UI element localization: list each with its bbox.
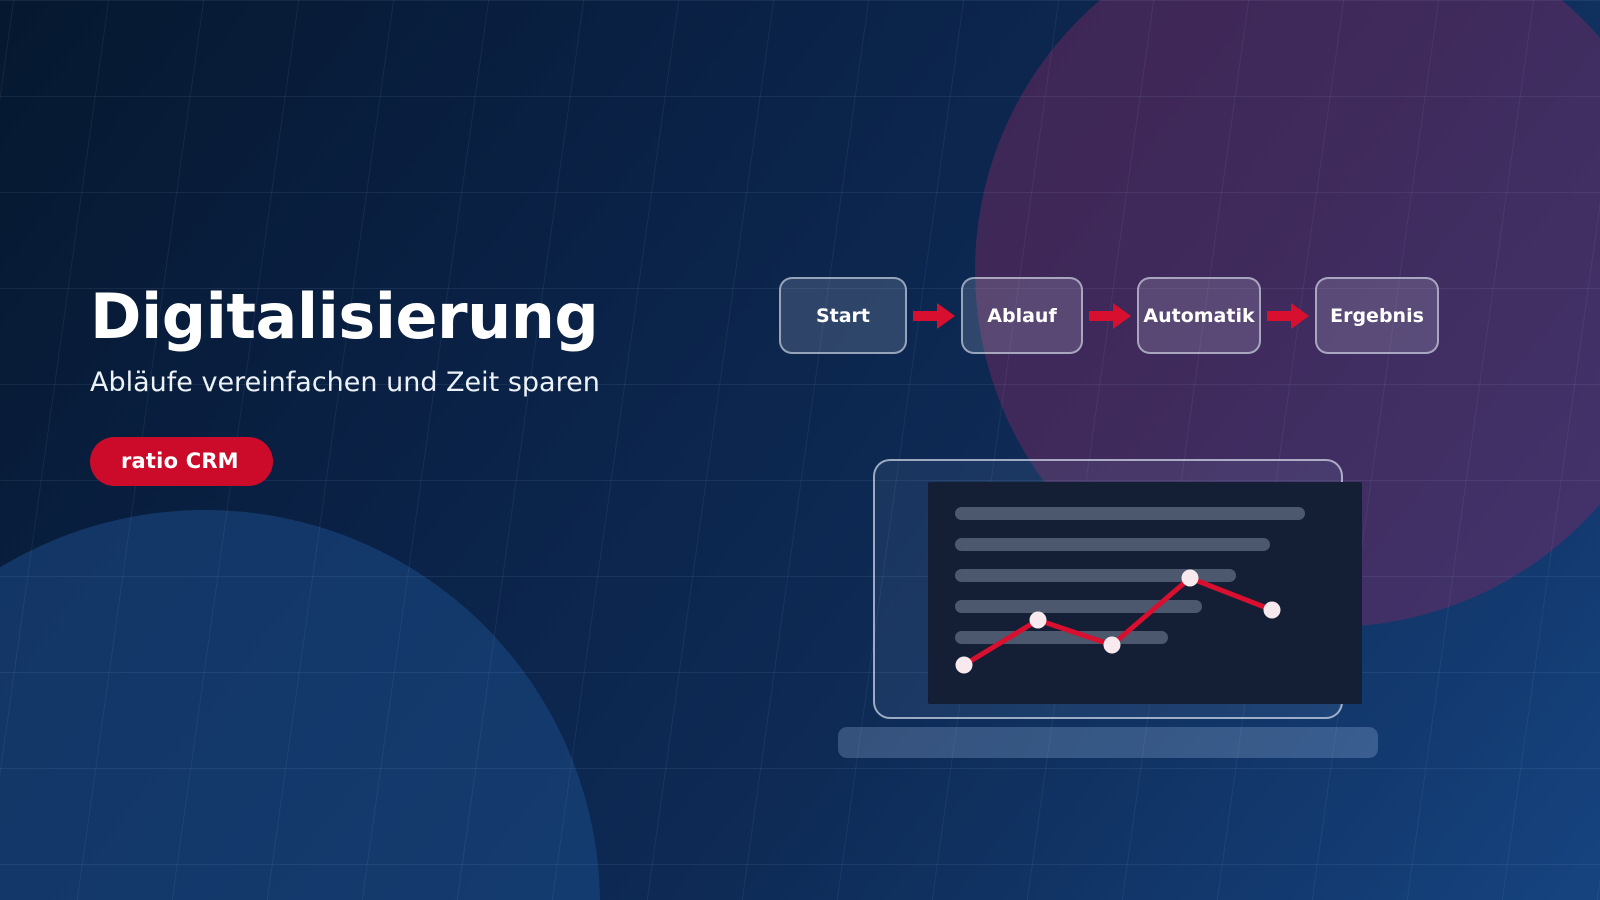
- laptop-mockup: [838, 459, 1378, 759]
- laptop-screen: [928, 482, 1362, 704]
- page-subtitle: Abläufe vereinfachen und Zeit sparen: [90, 367, 730, 399]
- chart-data-point: [1264, 602, 1281, 619]
- chart-data-point: [956, 657, 973, 674]
- flow-node-ablauf[interactable]: Ablauf: [961, 277, 1083, 354]
- chart-data-point: [1182, 570, 1199, 587]
- arrow-right-icon: [907, 301, 961, 331]
- flow-node-label: Ablauf: [987, 305, 1056, 327]
- decorative-circle-blue: [0, 510, 600, 900]
- arrow-right-icon: [1261, 301, 1315, 331]
- flow-node-label: Start: [816, 305, 870, 327]
- hero-text-block: Digitalisierung Abläufe vereinfachen und…: [90, 282, 730, 486]
- laptop-lid: [873, 459, 1343, 719]
- flow-node-label: Ergebnis: [1330, 305, 1424, 327]
- flow-node-label: Automatik: [1143, 305, 1254, 327]
- page-title: Digitalisierung: [90, 282, 730, 351]
- flow-node-ergebnis[interactable]: Ergebnis: [1315, 277, 1439, 354]
- chart-data-point: [1030, 612, 1047, 629]
- chart-data-point: [1104, 637, 1121, 654]
- line-chart: [928, 482, 1362, 704]
- flow-node-automatik[interactable]: Automatik: [1137, 277, 1261, 354]
- arrow-right-icon: [1083, 301, 1137, 331]
- hero-banner: Digitalisierung Abläufe vereinfachen und…: [0, 0, 1600, 900]
- brand-badge[interactable]: ratio CRM: [90, 437, 273, 486]
- flow-node-start[interactable]: Start: [779, 277, 907, 354]
- process-flow-diagram: Start Ablauf Automatik Ergebnis: [779, 277, 1439, 354]
- laptop-base: [838, 727, 1378, 758]
- chart-line: [964, 578, 1272, 665]
